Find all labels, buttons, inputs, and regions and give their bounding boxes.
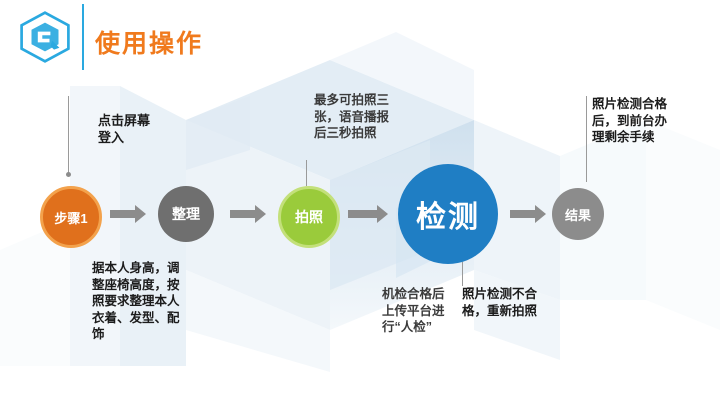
bottom-margin [0, 390, 720, 404]
flow-node-step1-label: 步骤1 [54, 208, 87, 227]
callout-tap-screen-login: 点击屏幕 登入 [98, 112, 150, 146]
callout-photo-fail: 照片检测不合格，重新拍照 [462, 286, 538, 319]
callout-photo-pass: 照片检测合格后，到前台办理剩余手续 [592, 96, 676, 146]
flow-node-photo-label: 拍照 [295, 207, 323, 227]
slide-header: 使用操作 [0, 0, 720, 74]
callout-adjust-seat: 据本人身高，调整座椅高度，按照要求整理本人衣着、发型、配饰 [92, 260, 184, 343]
leader-line-6 [586, 96, 587, 182]
callout-machine-pass: 机检合格后上传平台进行“人检” [382, 286, 456, 336]
flow-node-step1[interactable]: 步骤1 [40, 186, 102, 248]
flow-node-inspect[interactable]: 检测 [398, 164, 498, 264]
flow-arrow-4 [510, 205, 546, 223]
flow-arrow-1 [110, 205, 146, 223]
page-title: 使用操作 [95, 24, 203, 60]
header-divider [82, 4, 84, 70]
flow-arrow-2 [230, 205, 266, 223]
leader-dot-1 [66, 172, 71, 177]
slide-canvas: 使用操作 步骤1 整理 拍照 检测 结果 点击屏幕 登入 据本人身高，调整座椅高… [0, 0, 720, 404]
flow-arrow-3 [348, 205, 388, 223]
leader-line-1 [68, 96, 69, 176]
flow-node-photo[interactable]: 拍照 [278, 186, 340, 248]
flow-node-result-label: 结果 [565, 205, 591, 224]
flow-node-organize-label: 整理 [172, 204, 200, 224]
flow-node-organize[interactable]: 整理 [158, 186, 214, 242]
leader-line-3 [306, 160, 307, 186]
callout-photo-rules: 最多可拍照三张，语音播报后三秒拍照 [314, 92, 398, 142]
leader-line-5 [462, 262, 463, 286]
cube-logo [18, 10, 72, 64]
flow-node-inspect-label: 检测 [416, 192, 480, 236]
flow-node-result[interactable]: 结果 [552, 188, 604, 240]
